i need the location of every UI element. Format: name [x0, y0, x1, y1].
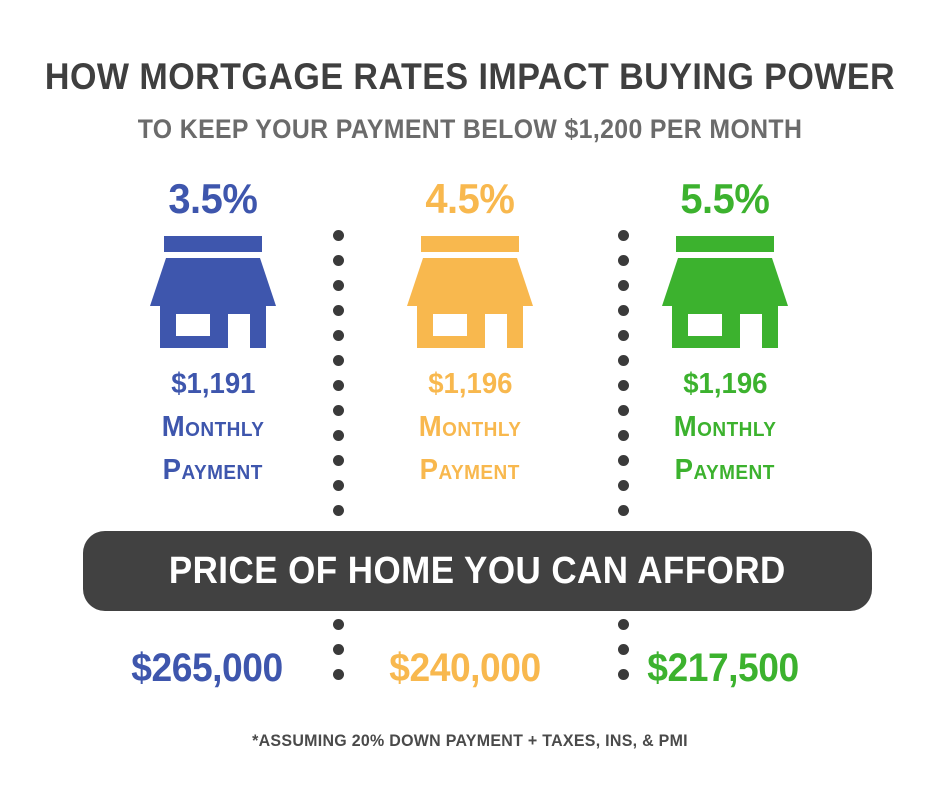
home-price-5-5: $217,500: [607, 648, 840, 688]
monthly-payment-amount: $1,196: [683, 370, 767, 399]
divider-dot: [618, 305, 629, 316]
divider-dot: [333, 255, 344, 266]
page-subtitle: TO KEEP YOUR PAYMENT BELOW $1,200 PER MO…: [38, 114, 903, 145]
home-price-3-5: $265,000: [91, 648, 324, 688]
rate-column-5-5: 5.5% $1,196 Monthly Payment: [600, 178, 850, 485]
monthly-payment-amount: $1,196: [428, 370, 512, 399]
divider-dot: [333, 505, 344, 516]
storefront-house-icon: [150, 236, 276, 348]
footnote: *ASSUMING 20% DOWN PAYMENT + TAXES, INS,…: [28, 731, 912, 751]
divider-dot: [618, 255, 629, 266]
divider-dot: [618, 230, 629, 241]
divider-dot: [333, 480, 344, 491]
monthly-label-line1: Monthly: [674, 413, 777, 442]
price-banner: PRICE OF HOME YOU CAN AFFORD: [83, 531, 872, 611]
divider-dot: [618, 480, 629, 491]
divider-dot: [333, 330, 344, 341]
divider-dot: [618, 405, 629, 416]
rate-value: 3.5%: [168, 178, 257, 220]
divider-dot: [618, 380, 629, 391]
monthly-label-line1: Monthly: [419, 413, 522, 442]
dotted-divider-right: [618, 230, 630, 530]
divider-dot: [333, 380, 344, 391]
divider-dot: [618, 330, 629, 341]
home-prices-row: $265,000 $240,000 $217,500: [0, 648, 940, 694]
divider-dot: [333, 305, 344, 316]
divider-dot: [333, 455, 344, 466]
home-price-4-5: $240,000: [349, 648, 582, 688]
storefront-house-icon: [407, 236, 533, 348]
monthly-payment-amount: $1,191: [171, 370, 255, 399]
divider-dot: [618, 280, 629, 291]
divider-dot: [618, 355, 629, 366]
divider-dot: [333, 355, 344, 366]
storefront-house-icon: [662, 236, 788, 348]
monthly-label-line2: Payment: [675, 456, 775, 485]
rate-columns: 3.5% $1,191 Monthly Payment 4.5%: [0, 178, 940, 518]
rate-value: 4.5%: [425, 178, 514, 220]
divider-dot: [618, 430, 629, 441]
rate-value: 5.5%: [680, 178, 769, 220]
monthly-label-line2: Payment: [163, 456, 263, 485]
dotted-divider-left: [333, 230, 345, 530]
rate-column-4-5: 4.5% $1,196 Monthly Payment: [345, 178, 595, 485]
divider-dot: [333, 230, 344, 241]
divider-dot: [333, 280, 344, 291]
infographic-root: HOW MORTGAGE RATES IMPACT BUYING POWER T…: [0, 0, 940, 788]
monthly-label-line2: Payment: [420, 456, 520, 485]
divider-dot: [333, 405, 344, 416]
price-banner-label: PRICE OF HOME YOU CAN AFFORD: [169, 550, 786, 593]
divider-dot: [618, 505, 629, 516]
divider-dot: [333, 619, 344, 630]
divider-dot: [618, 455, 629, 466]
page-title: HOW MORTGAGE RATES IMPACT BUYING POWER: [38, 56, 903, 98]
divider-dot: [618, 619, 629, 630]
monthly-label-line1: Monthly: [162, 413, 265, 442]
rate-column-3-5: 3.5% $1,191 Monthly Payment: [88, 178, 338, 485]
divider-dot: [333, 430, 344, 441]
